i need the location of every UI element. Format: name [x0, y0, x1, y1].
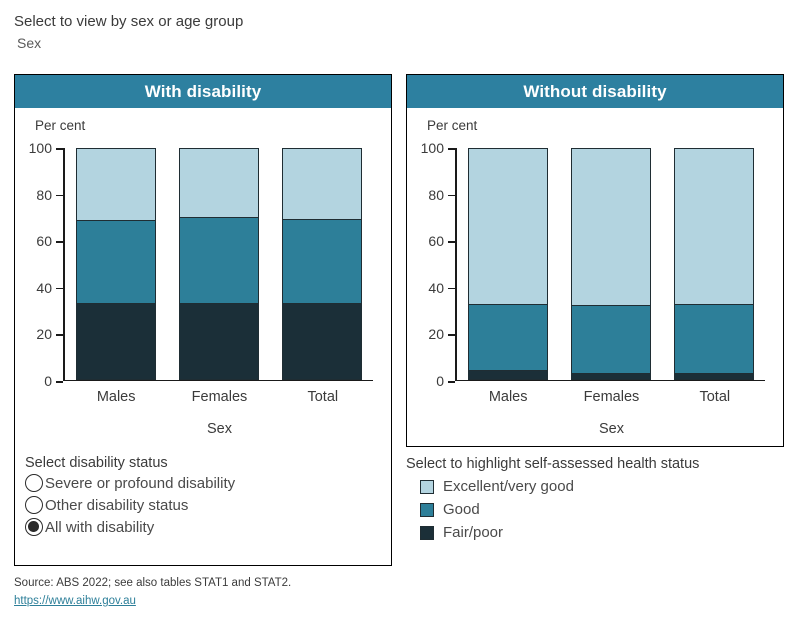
chart-without-disability: Per cent 100806040200 MalesFemalesTotal … — [407, 108, 783, 448]
bar-segment-fair-poor[interactable] — [468, 370, 548, 379]
x-tick-label-males: Males — [76, 389, 156, 405]
y-tick-label: 0 — [44, 373, 52, 389]
y-tick-mark-icon — [448, 241, 455, 243]
y-tick-mark-icon — [448, 148, 455, 150]
legend-item-label: Excellent/very good — [443, 478, 574, 495]
radio-option-label: All with disability — [45, 519, 154, 536]
x-tick-label-females: Females — [571, 389, 651, 405]
x-axis-title-left: Sex — [65, 421, 375, 437]
bar-segment-good[interactable] — [674, 304, 754, 372]
bar-females[interactable] — [571, 148, 651, 380]
radio-unchecked-icon[interactable] — [25, 496, 43, 514]
y-tick-mark-icon — [56, 241, 63, 243]
bar-segment-excellent-very-good[interactable] — [282, 148, 362, 219]
y-tick-mark-icon — [448, 195, 455, 197]
x-tick-label-females: Females — [179, 389, 259, 405]
footer: Source: ABS 2022; see also tables STAT1 … — [14, 576, 614, 609]
x-axis-tick-labels-left: MalesFemalesTotal — [65, 389, 375, 405]
legend-swatch-icon[interactable] — [420, 480, 434, 494]
bar-males[interactable] — [76, 148, 156, 380]
bar-segment-good[interactable] — [468, 304, 548, 371]
bar-segment-fair-poor[interactable] — [76, 303, 156, 379]
source-link[interactable]: https://www.aihw.gov.au — [14, 594, 136, 609]
legend-swatch-icon[interactable] — [420, 503, 434, 517]
y-tick-label: 60 — [428, 233, 444, 249]
bar-females[interactable] — [179, 148, 259, 380]
legend-item-fair-poor[interactable]: Fair/poor — [420, 521, 786, 544]
bar-segment-excellent-very-good[interactable] — [179, 148, 259, 217]
bar-group-right — [457, 148, 766, 380]
y-axis-unit-label-right: Per cent — [427, 118, 477, 133]
radio-option-0[interactable]: Severe or profound disability — [25, 472, 375, 494]
y-tick-label: 100 — [29, 140, 52, 156]
bar-segment-fair-poor[interactable] — [282, 303, 362, 379]
legend-item-excellent-very-good[interactable]: Excellent/very good — [420, 475, 786, 498]
legend-item-label: Good — [443, 501, 480, 518]
plot-inner-right: 100806040200 — [455, 148, 765, 381]
x-axis-title-right: Sex — [457, 421, 767, 437]
view-selector: Select to view by sex or age group Sex — [14, 12, 614, 53]
y-tick-mark-icon — [56, 195, 63, 197]
bar-segment-fair-poor[interactable] — [179, 303, 259, 379]
bar-segment-excellent-very-good[interactable] — [468, 148, 548, 304]
radio-unchecked-icon[interactable] — [25, 474, 43, 492]
disability-status-options: Severe or profound disabilityOther disab… — [25, 472, 375, 538]
y-tick-mark-icon — [448, 334, 455, 336]
panel-title-without-disability: Without disability — [407, 75, 783, 108]
y-tick-label: 80 — [36, 187, 52, 203]
y-tick-mark-icon — [56, 288, 63, 290]
bar-males[interactable] — [468, 148, 548, 380]
x-axis-line-left — [63, 380, 373, 382]
plot-inner-left: 100806040200 — [63, 148, 373, 381]
y-tick-label: 40 — [36, 280, 52, 296]
radio-option-label: Other disability status — [45, 497, 188, 514]
radio-option-1[interactable]: Other disability status — [25, 494, 375, 516]
y-tick-mark-icon — [56, 148, 63, 150]
health-status-legend: Select to highlight self-assessed health… — [406, 456, 786, 544]
radio-checked-icon[interactable] — [25, 518, 43, 536]
y-tick-mark-icon — [56, 334, 63, 336]
y-tick-mark-icon — [56, 381, 63, 383]
x-tick-label-total: Total — [283, 389, 363, 405]
disability-status-control: Select disability status Severe or profo… — [25, 455, 375, 538]
x-axis-line-right — [455, 380, 765, 382]
health-status-legend-title: Select to highlight self-assessed health… — [406, 456, 786, 472]
y-tick-label: 0 — [436, 373, 444, 389]
bar-segment-fair-poor[interactable] — [674, 373, 754, 380]
y-tick-mark-icon — [448, 381, 455, 383]
y-axis-unit-label-left: Per cent — [35, 118, 85, 133]
chart-with-disability: Per cent 100806040200 MalesFemalesTotal … — [15, 108, 391, 448]
bar-segment-good[interactable] — [282, 219, 362, 303]
view-selector-value[interactable]: Sex — [17, 34, 614, 53]
y-tick-label: 100 — [421, 140, 444, 156]
panel-without-disability: Without disability Per cent 100806040200… — [406, 74, 784, 447]
source-note: Source: ABS 2022; see also tables STAT1 … — [14, 576, 614, 591]
x-tick-label-total: Total — [675, 389, 755, 405]
x-tick-label-males: Males — [468, 389, 548, 405]
bar-segment-excellent-very-good[interactable] — [76, 148, 156, 220]
bar-total[interactable] — [674, 148, 754, 380]
bar-group-left — [65, 148, 374, 380]
legend-item-good[interactable]: Good — [420, 498, 786, 521]
y-tick-mark-icon — [448, 288, 455, 290]
y-tick-label: 40 — [428, 280, 444, 296]
y-tick-label: 80 — [428, 187, 444, 203]
panel-title-with-disability: With disability — [15, 75, 391, 108]
bar-segment-excellent-very-good[interactable] — [674, 148, 754, 304]
y-tick-label: 20 — [36, 326, 52, 342]
bar-total[interactable] — [282, 148, 362, 380]
legend-item-label: Fair/poor — [443, 524, 503, 541]
view-selector-label: Select to view by sex or age group — [14, 12, 614, 31]
bar-segment-excellent-very-good[interactable] — [571, 148, 651, 305]
y-tick-label: 60 — [36, 233, 52, 249]
bar-segment-good[interactable] — [76, 220, 156, 303]
bar-segment-good[interactable] — [179, 217, 259, 304]
health-status-legend-items: Excellent/very goodGoodFair/poor — [406, 475, 786, 544]
panel-with-disability: With disability Per cent 100806040200 Ma… — [14, 74, 392, 566]
radio-option-2[interactable]: All with disability — [25, 516, 375, 538]
y-tick-label: 20 — [428, 326, 444, 342]
x-axis-tick-labels-right: MalesFemalesTotal — [457, 389, 767, 405]
legend-swatch-icon[interactable] — [420, 526, 434, 540]
bar-segment-fair-poor[interactable] — [571, 373, 651, 379]
radio-option-label: Severe or profound disability — [45, 475, 235, 492]
disability-status-title: Select disability status — [25, 455, 375, 471]
bar-segment-good[interactable] — [571, 305, 651, 374]
